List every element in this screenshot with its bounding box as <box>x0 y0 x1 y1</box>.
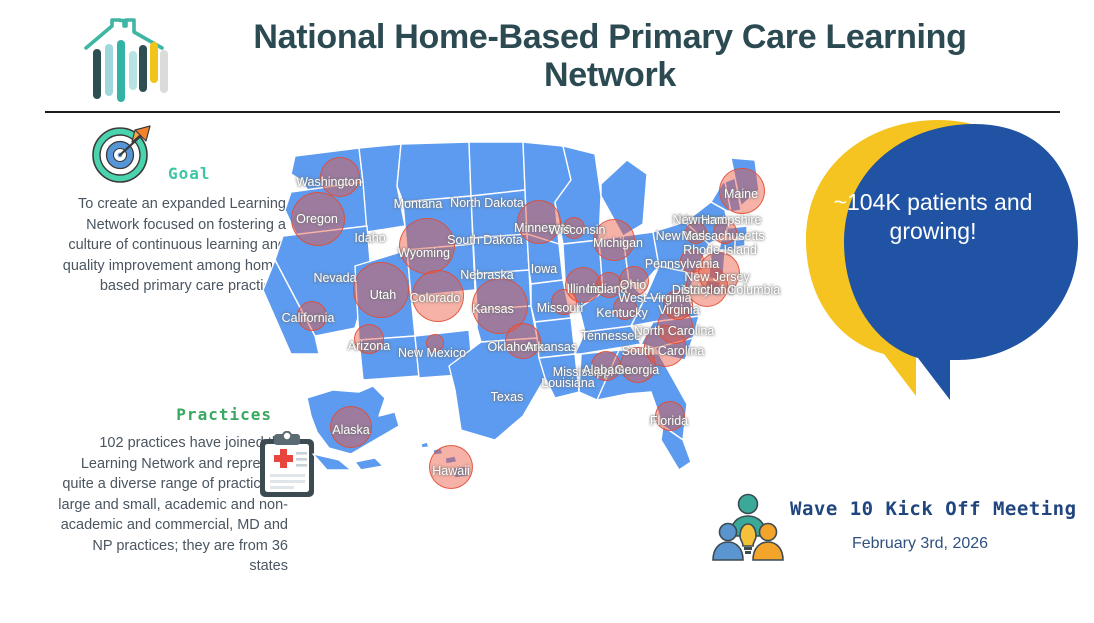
map-bubble <box>591 351 621 381</box>
map-bubble <box>505 323 541 359</box>
map-bubble <box>563 217 585 239</box>
map-bubble <box>353 262 409 318</box>
goal-label: Goal <box>168 164 211 183</box>
map-bubble <box>429 445 473 489</box>
map-bubble <box>593 219 635 261</box>
map-bubble <box>596 272 622 298</box>
page-header: National Home-Based Primary Care Learnin… <box>0 0 1094 112</box>
target-arrow-icon <box>88 122 160 186</box>
map-bubble <box>644 325 686 367</box>
goal-text: To create an expanded Learning Network f… <box>58 194 286 297</box>
practices-text: 102 practices have joined the Learning N… <box>52 433 288 577</box>
map-bubble <box>655 401 685 431</box>
map-bubble <box>330 406 372 448</box>
map-bubble <box>412 270 464 322</box>
map-bubble <box>680 249 704 273</box>
map-bubble <box>698 252 740 294</box>
map-bubble <box>320 157 360 197</box>
meeting-title: Wave 10 Kick Off Meeting <box>790 498 1080 520</box>
map-bubble <box>719 168 765 214</box>
people-group-idea-icon <box>712 492 784 562</box>
map-bubble <box>613 296 637 320</box>
callout-body <box>844 124 1078 400</box>
callout-text: ~104K patients and growing! <box>806 188 1060 246</box>
map-bubble <box>354 324 384 354</box>
map-bubble <box>619 266 649 296</box>
map-bubble <box>517 200 561 244</box>
meeting-date: February 3rd, 2026 <box>790 535 1050 553</box>
map-bubble <box>426 334 444 352</box>
house-bar-chart-logo <box>78 18 174 106</box>
map-bubble <box>291 192 345 246</box>
map-bubble <box>399 218 455 274</box>
map-bubble <box>297 301 327 331</box>
map-bubble <box>685 222 707 244</box>
us-map[interactable]: WashingtonOregonIdahoMontanaWyomingNevad… <box>255 140 775 500</box>
patients-callout-bubble <box>788 112 1078 402</box>
map-bubble <box>713 220 737 244</box>
page-title: National Home-Based Primary Care Learnin… <box>190 18 1030 94</box>
